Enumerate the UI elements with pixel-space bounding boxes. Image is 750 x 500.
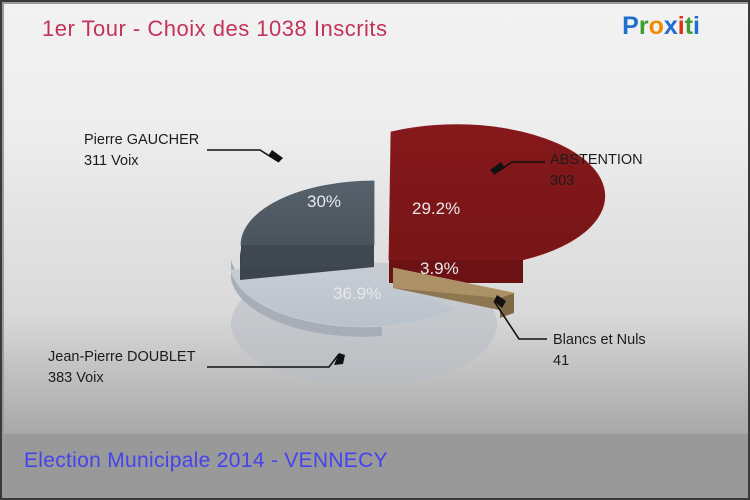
logo-letter-p: P bbox=[622, 12, 639, 41]
proxiti-logo[interactable]: Proxiti bbox=[622, 12, 700, 41]
label-gaucher-name: Pierre GAUCHER bbox=[84, 132, 199, 148]
logo-letter-i1: i bbox=[678, 12, 685, 41]
label-abstention-name: ABSTENTION bbox=[550, 152, 643, 168]
label-blancs-name: Blancs et Nuls bbox=[553, 332, 646, 348]
chart-canvas: 1er Tour - Choix des 1038 Inscrits Proxi… bbox=[0, 0, 750, 500]
label-blancs-value: 41 bbox=[553, 351, 646, 372]
label-gaucher-value: 311 Voix bbox=[84, 151, 199, 172]
percent-label-abstention: 29.2% bbox=[412, 199, 460, 219]
logo-letter-x: x bbox=[664, 12, 678, 41]
pie-chart-svg bbox=[2, 2, 750, 500]
page-title: 1er Tour - Choix des 1038 Inscrits bbox=[42, 16, 388, 42]
percent-label-doublet: 36.9% bbox=[333, 284, 381, 304]
label-blancs: Blancs et Nuls 41 bbox=[553, 330, 646, 372]
logo-letter-i2: i bbox=[693, 12, 700, 41]
label-doublet: Jean-Pierre DOUBLET 383 Voix bbox=[48, 347, 195, 389]
label-doublet-name: Jean-Pierre DOUBLET bbox=[48, 349, 195, 365]
logo-letter-o: o bbox=[649, 12, 664, 41]
percent-label-gaucher: 30% bbox=[307, 192, 341, 212]
label-abstention: ABSTENTION 303 bbox=[550, 150, 643, 192]
label-doublet-value: 383 Voix bbox=[48, 368, 195, 389]
logo-letter-t: t bbox=[685, 12, 693, 41]
label-abstention-value: 303 bbox=[550, 171, 643, 192]
label-gaucher: Pierre GAUCHER 311 Voix bbox=[84, 130, 199, 172]
logo-letter-r: r bbox=[639, 12, 649, 41]
percent-label-blancs: 3.9% bbox=[420, 259, 459, 279]
chart-caption: Election Municipale 2014 - VENNECY bbox=[24, 449, 388, 473]
